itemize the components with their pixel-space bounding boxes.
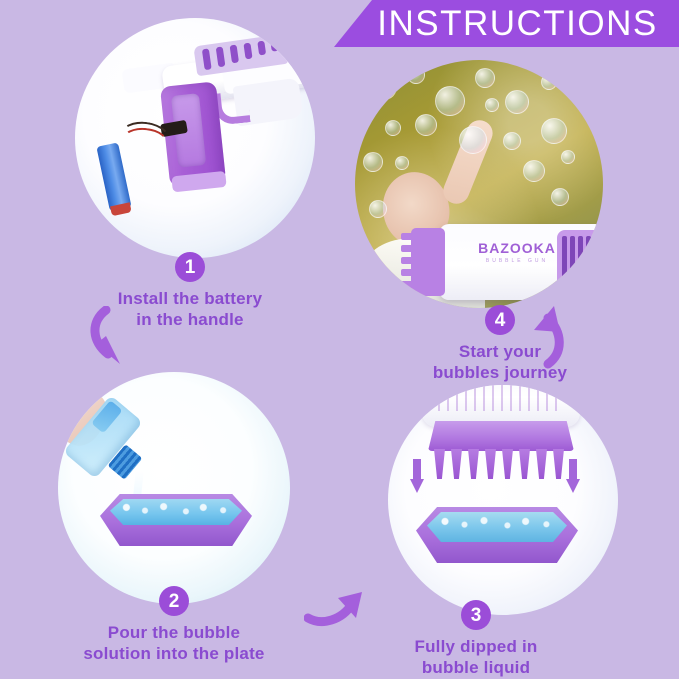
bubble — [541, 74, 557, 90]
dip-down-arrow-right — [566, 459, 580, 493]
bubble-tray-filled — [416, 507, 578, 563]
bubble — [551, 188, 569, 206]
step-4-caption-line-1: Start your — [350, 341, 650, 362]
dip-down-arrow-left — [410, 459, 424, 493]
bazooka-bubble-gun: BAZOOKA BUBBLE GUN — [439, 224, 603, 300]
gun-nozzle-housing — [422, 385, 580, 427]
bubble — [363, 152, 383, 172]
handle-base — [171, 171, 226, 193]
bubble — [371, 74, 397, 100]
step-2-badge: 2 — [159, 586, 189, 616]
arrow-step1-to-step2 — [86, 306, 146, 372]
step-3-badge: 3 — [461, 600, 491, 630]
battery-cell — [96, 142, 131, 211]
step-1-badge: 1 — [175, 252, 205, 282]
brand-name: BAZOOKA — [469, 240, 565, 256]
gun-brand-label: BAZOOKA BUBBLE GUN — [469, 240, 565, 264]
step-1-caption: 1 Install the battery in the handle — [40, 252, 340, 330]
step-4-caption: 4 Start your bubbles journey — [350, 305, 650, 383]
step-1-photo — [75, 18, 315, 258]
step-1-caption-line-2: in the handle — [40, 309, 340, 330]
step-2-caption-line-1: Pour the bubble — [24, 622, 324, 643]
step-4-badge: 4 — [485, 305, 515, 335]
bubble — [485, 98, 499, 112]
bubble — [435, 86, 465, 116]
bubble — [407, 66, 425, 84]
step-4-photo: BAZOOKA BUBBLE GUN — [355, 60, 603, 308]
gun-wand-block — [411, 228, 445, 296]
bubble-tray — [100, 494, 252, 546]
bubble-wand-array — [432, 449, 570, 483]
step-2-caption-line-2: solution into the plate — [24, 643, 324, 664]
step-4-caption-line-2: bubbles journey — [350, 362, 650, 383]
step-2-illustration — [58, 372, 290, 604]
bubble — [369, 200, 387, 218]
bubble — [459, 126, 487, 154]
bubble — [561, 150, 575, 164]
bubble — [541, 118, 567, 144]
step-1-illustration — [75, 18, 315, 258]
banner-title: INSTRUCTIONS — [355, 4, 658, 44]
step-4-scene: BAZOOKA BUBBLE GUN — [355, 60, 603, 308]
instructions-banner: INSTRUCTIONS — [334, 0, 679, 47]
bubble — [475, 68, 495, 88]
gun-vent-grille — [557, 230, 601, 292]
bubble — [523, 160, 545, 182]
nozzle-plate — [428, 421, 574, 451]
bubble — [503, 132, 521, 150]
step-3-caption-line-2: bubble liquid — [326, 657, 626, 678]
step-1-caption-line-1: Install the battery — [40, 288, 340, 309]
step-3-illustration — [388, 385, 618, 615]
step-2-caption: 2 Pour the bubble solution into the plat… — [24, 586, 324, 664]
step-2-photo — [58, 372, 290, 604]
bubble — [395, 156, 409, 170]
bubble — [415, 114, 437, 136]
bubble — [385, 120, 401, 136]
battery-positive-cap — [110, 202, 132, 216]
step-3-caption-line-1: Fully dipped in — [326, 636, 626, 657]
step-3-photo — [388, 385, 618, 615]
tray-foam-bubbles — [114, 501, 238, 517]
brand-subtitle: BUBBLE GUN — [469, 258, 565, 264]
step-3-caption: 3 Fully dipped in bubble liquid — [326, 600, 626, 678]
tray-foam-bubbles — [432, 515, 562, 531]
bubble — [505, 90, 529, 114]
